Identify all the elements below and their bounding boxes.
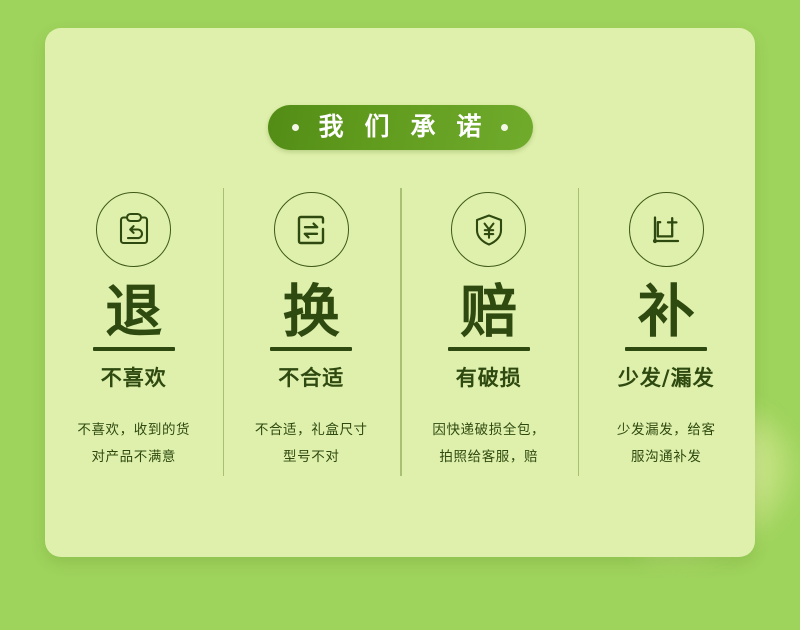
underline-divider xyxy=(448,347,530,350)
promise-description-line2: 拍照给客服，赔 xyxy=(432,444,545,471)
header-area: 我 们 承 诺 xyxy=(45,105,755,150)
promise-description: 因快递破损全包， 拍照给客服，赔 xyxy=(432,417,545,471)
bullet-dot-right-icon xyxy=(501,124,508,131)
promise-big-char: 退 xyxy=(105,283,162,341)
promise-description-line2: 服沟通补发 xyxy=(617,444,716,471)
promise-description: 少发漏发，给客 服沟通补发 xyxy=(617,417,716,471)
promise-description: 不喜欢，收到的货 对产品不满意 xyxy=(77,417,190,471)
underline-divider xyxy=(93,347,175,350)
promise-label: 少发/漏发 xyxy=(618,362,715,392)
clipboard-return-icon xyxy=(96,192,171,267)
underline-divider xyxy=(625,347,707,350)
promise-description-line1: 不喜欢，收到的货 xyxy=(77,417,190,444)
underline-divider xyxy=(270,347,352,350)
promise-column-exchange: 换 不合适 不合适，礼盒尺寸 型号不对 xyxy=(223,178,401,471)
promise-label: 有破损 xyxy=(456,362,522,392)
promise-column-return: 退 不喜欢 不喜欢，收到的货 对产品不满意 xyxy=(45,178,223,471)
exchange-box-icon xyxy=(274,192,349,267)
promise-label: 不合适 xyxy=(278,362,344,392)
promise-description-line2: 型号不对 xyxy=(255,444,368,471)
promise-description-line2: 对产品不满意 xyxy=(77,444,190,471)
shield-yuan-icon xyxy=(451,192,526,267)
promise-big-char: 换 xyxy=(283,283,340,341)
promise-column-compensate: 赔 有破损 因快递破损全包， 拍照给客服，赔 xyxy=(400,178,578,471)
bullet-dot-left-icon xyxy=(292,124,299,131)
package-plus-icon xyxy=(629,192,704,267)
promise-columns: 退 不喜欢 不喜欢，收到的货 对产品不满意 换 不合适 不合适，礼盒尺寸 xyxy=(45,178,755,471)
promise-description-line1: 不合适，礼盒尺寸 xyxy=(255,417,368,444)
promise-label: 不喜欢 xyxy=(101,362,167,392)
promise-big-char: 赔 xyxy=(460,283,517,341)
promise-big-char: 补 xyxy=(638,283,695,341)
page-title: 我 们 承 诺 xyxy=(312,115,489,140)
promise-card: 我 们 承 诺 退 不喜欢 不喜欢，收到的货 对产品不满意 xyxy=(45,28,755,557)
promise-description: 不合适，礼盒尺寸 型号不对 xyxy=(255,417,368,471)
promise-description-line1: 因快递破损全包， xyxy=(432,417,545,444)
title-badge: 我 们 承 诺 xyxy=(268,105,533,150)
promise-column-resend: 补 少发/漏发 少发漏发，给客 服沟通补发 xyxy=(578,178,756,471)
promise-description-line1: 少发漏发，给客 xyxy=(617,417,716,444)
